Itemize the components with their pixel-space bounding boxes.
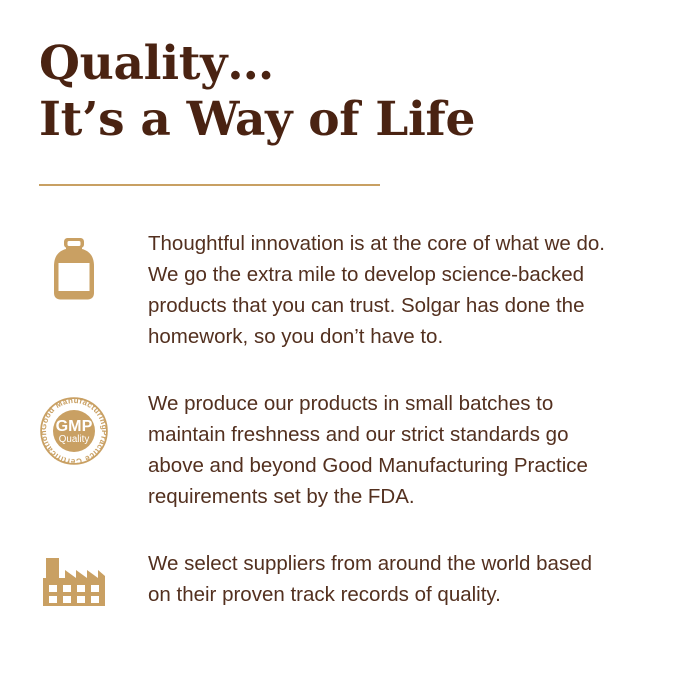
- gmp-center-label: GMP: [56, 417, 93, 435]
- page-title-line-2: It’s a Way of Life: [39, 92, 639, 148]
- list-item: We select suppliers from around the worl…: [0, 548, 700, 610]
- quality-brand-panel: Quality… It’s a Way of Life: [0, 0, 700, 700]
- feature-icon-container: [0, 228, 148, 300]
- feature-description: We produce our products in small batches…: [148, 388, 618, 512]
- gmp-quality-seal-icon: Good Manufacturing Practice Certificatio…: [39, 396, 109, 466]
- feature-description: We select suppliers from around the worl…: [148, 548, 618, 610]
- feature-list: Thoughtful innovation is at the core of …: [0, 228, 700, 610]
- list-item: Thoughtful innovation is at the core of …: [0, 228, 700, 352]
- gold-rule-divider: [39, 184, 380, 186]
- page-title-line-1: Quality…: [39, 36, 639, 92]
- gmp-quality-label: Quality: [59, 434, 90, 445]
- feature-description: Thoughtful innovation is at the core of …: [148, 228, 618, 352]
- supplement-bottle-icon: [52, 238, 96, 300]
- feature-icon-container: Good Manufacturing Practice Certificatio…: [0, 388, 148, 466]
- factory-icon: [43, 558, 105, 606]
- page-title: Quality… It’s a Way of Life: [39, 36, 639, 148]
- feature-icon-container: [0, 548, 148, 606]
- list-item: Good Manufacturing Practice Certificatio…: [0, 388, 700, 512]
